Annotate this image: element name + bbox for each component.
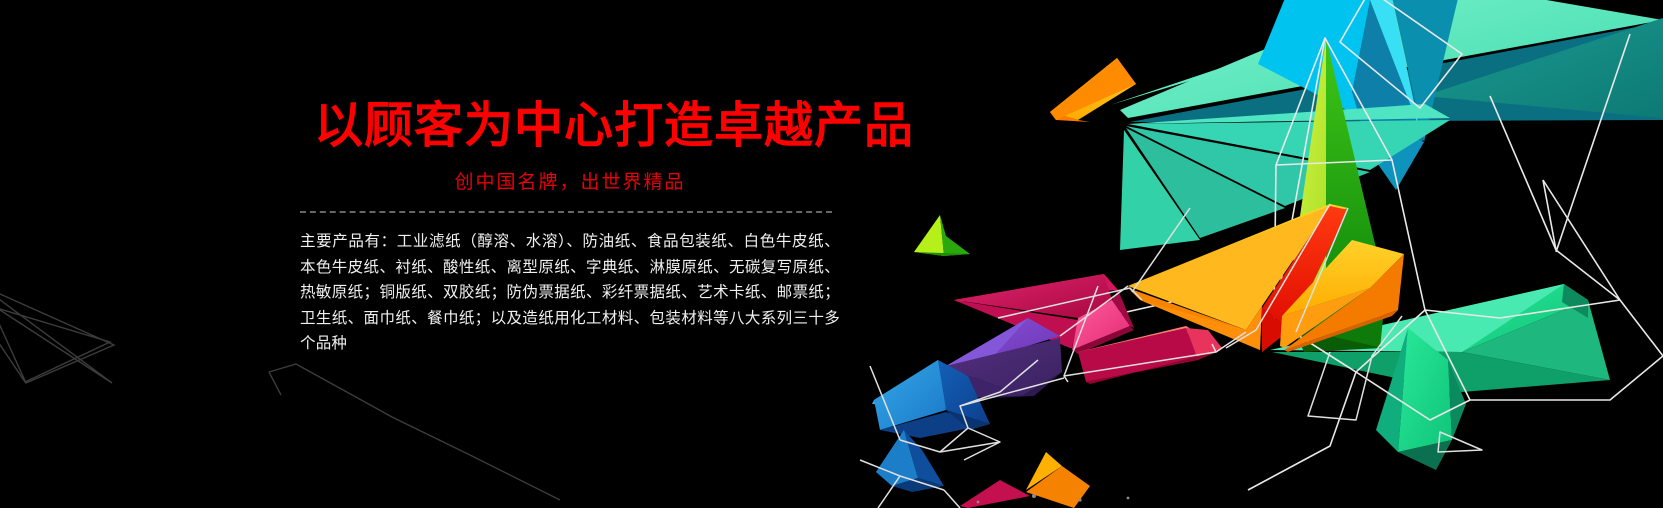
pyramid-green-left xyxy=(1288,38,1326,314)
purple-body-facet xyxy=(946,338,1062,396)
wireframe-net-group xyxy=(1100,0,1663,490)
pink-right-facet xyxy=(1072,300,1130,350)
orange-diamond-side xyxy=(1050,58,1136,120)
cyan-spike-group xyxy=(1258,0,1460,190)
orange-diamond-right xyxy=(1284,254,1404,350)
blue-pyramid-face xyxy=(874,360,946,430)
blue-pyramid-shade xyxy=(946,410,990,430)
red-wedge-facet xyxy=(1262,206,1348,330)
green-triangle-base xyxy=(914,252,970,256)
lime-pyramid-face-a xyxy=(1288,38,1326,312)
blue-small-light xyxy=(876,430,904,480)
cyan-spike-light xyxy=(1360,0,1422,140)
lime-pyramid-shadow xyxy=(1326,290,1386,348)
purple-shadow-facet xyxy=(946,366,1022,398)
orange-wedge-top xyxy=(1128,204,1348,288)
lime-main-facet xyxy=(1288,37,1326,312)
orange-wedge-under xyxy=(1128,288,1260,350)
lime-pyramid-face-east xyxy=(1326,38,1386,300)
banner-text-block: 以顾客为中心打造卓越产品 创中国名牌，出世界精品 主要产品有：工业滤纸（醇溶、水… xyxy=(300,96,860,372)
lime-facet-front xyxy=(1288,38,1326,312)
purple-left-facet xyxy=(946,318,1028,400)
mint-blade-mid xyxy=(1424,18,1663,118)
emerald-right-facet xyxy=(1462,300,1610,380)
mint-fan-group xyxy=(1110,0,1663,122)
cyan-blade-lower-light xyxy=(1344,122,1370,158)
blue-pyramid-small-group xyxy=(876,430,944,492)
emerald-small-left xyxy=(1376,328,1408,452)
mint-ray-e xyxy=(1120,130,1200,250)
emerald-top-facet xyxy=(1414,284,1588,352)
orange-spike-small-group xyxy=(1026,452,1090,508)
green-triangle-small xyxy=(914,215,970,256)
lime-pyramid-group xyxy=(1286,36,1386,352)
purple-bottom-facet xyxy=(952,372,1062,400)
emerald-bottom-facet xyxy=(1272,352,1610,392)
lime-left-facet xyxy=(1288,36,1322,310)
blue-small-bottom xyxy=(892,478,944,492)
lime-pyramid-face-south xyxy=(1286,290,1386,336)
emerald-shade-facet xyxy=(1562,284,1588,318)
blue-pyramid-light xyxy=(872,360,946,408)
emerald-left-facet xyxy=(1270,284,1564,352)
magenta-bottom xyxy=(1072,326,1134,354)
cyan-blade-upper xyxy=(1290,0,1370,120)
cyan-blade-dark xyxy=(1352,0,1424,160)
orange-spike-light xyxy=(1026,452,1062,490)
cyan-blade-lower xyxy=(1368,120,1424,190)
mint-blade-large xyxy=(1120,0,1663,118)
yellow-diamond-top xyxy=(1282,240,1404,316)
red-wedge-shadow xyxy=(1262,308,1290,352)
crimson-body-facet xyxy=(1078,328,1198,382)
blue-small-right xyxy=(904,430,944,486)
crimson-right-facet xyxy=(1186,328,1222,360)
lime-facet-a xyxy=(1288,38,1326,312)
mint-ray-a xyxy=(1128,104,1450,124)
blue-pyramid-group xyxy=(872,360,990,438)
sparkle-dot xyxy=(1127,497,1130,500)
lime-face-bright xyxy=(1289,39,1326,312)
lime-pyramid-face-west xyxy=(1286,38,1326,312)
magenta-top-facet xyxy=(954,274,1118,302)
lime-triangle-light xyxy=(1288,38,1326,313)
orange-wedge-group xyxy=(1128,204,1348,352)
orange-wedge-face xyxy=(1128,206,1330,330)
lime-front-face xyxy=(1288,38,1326,312)
blue-pyramid-bottom xyxy=(880,412,990,438)
emerald-small-right xyxy=(1448,360,1466,440)
pink-dark-facet xyxy=(1112,290,1134,328)
salmon-top-facet xyxy=(1078,326,1196,356)
sparkle-dot xyxy=(977,501,980,504)
lime-pyramid-lit xyxy=(1288,38,1326,312)
mint-blade-light xyxy=(1110,0,1525,105)
sparkle-dot xyxy=(1032,494,1036,498)
salmon-wedge-group xyxy=(1078,326,1222,384)
emerald-small-shadow xyxy=(1398,440,1452,470)
mint-ray-b xyxy=(1128,120,1450,170)
mint-ray-d xyxy=(1126,128,1285,238)
purple-wedge-group xyxy=(946,318,1062,400)
lime-face-light xyxy=(1288,38,1326,312)
pyramid-lime-front xyxy=(1289,38,1326,313)
orange-spike-dark xyxy=(1026,466,1090,508)
magenta-left-facet xyxy=(954,274,1112,318)
magenta-spike-facet xyxy=(960,480,1030,508)
magenta-wedge-group xyxy=(954,274,1134,354)
lime-pyramid-light-face xyxy=(1288,38,1326,312)
orange-diamond-small xyxy=(1050,58,1136,122)
product-description: 主要产品有：工业滤纸（醇溶、水溶）、防油纸、食品包装纸、白色牛皮纸、本色牛皮纸、… xyxy=(300,229,840,357)
cyan-spike-teal xyxy=(1386,0,1460,142)
yellow-diamond-bottom xyxy=(1284,310,1398,352)
lime-pyramid-west xyxy=(1288,38,1326,312)
purple-top-facet xyxy=(946,318,1060,370)
mint-ray-group xyxy=(1120,104,1450,250)
mint-ray-c xyxy=(1126,126,1370,206)
green-triangle-light xyxy=(914,215,944,256)
lime-face-1 xyxy=(1288,38,1326,310)
orange-wedge-lower xyxy=(1140,300,1262,350)
lime-bright-facet xyxy=(1288,38,1326,312)
yellow-diamond-left xyxy=(1280,288,1370,348)
lime-pyramid-bottom xyxy=(1286,312,1382,352)
lime-pyramid-face-left xyxy=(1288,38,1326,312)
cyan-blade-left xyxy=(1258,0,1370,122)
crimson-dark-facet xyxy=(1086,350,1222,384)
orange-diamond-bottom xyxy=(1050,112,1090,122)
emerald-prism-group xyxy=(1270,284,1610,392)
emerald-small-front xyxy=(1398,328,1452,452)
magenta-bottom-spike xyxy=(960,480,1030,508)
lime-a xyxy=(1288,38,1326,312)
blue-pyramid-right xyxy=(938,360,990,424)
dashed-divider xyxy=(300,211,832,213)
lime-pyramid-main xyxy=(1286,38,1326,312)
teal-blade-dark xyxy=(1130,22,1663,122)
emerald-small-pyramid-group xyxy=(1376,328,1466,470)
wireframe-lower-group xyxy=(860,204,1482,508)
sparkle-dot xyxy=(1078,498,1081,501)
promo-banner: 以顾客为中心打造卓越产品 创中国名牌，出世界精品 主要产品有：工业滤纸（醇溶、水… xyxy=(0,0,1663,508)
banner-subtitle: 创中国名牌，出世界精品 xyxy=(300,170,840,196)
green-triangle-dark xyxy=(940,215,970,256)
lime-face-A xyxy=(1288,39,1326,313)
sparkle-dots-group xyxy=(977,494,1130,503)
blue-small-face xyxy=(876,430,918,486)
yellow-diamond-group xyxy=(1280,240,1404,352)
orange-diamond-top xyxy=(1050,58,1136,120)
magenta-body-facet xyxy=(954,300,1078,348)
page-title: 以顾客为中心打造卓越产品 xyxy=(300,96,860,156)
